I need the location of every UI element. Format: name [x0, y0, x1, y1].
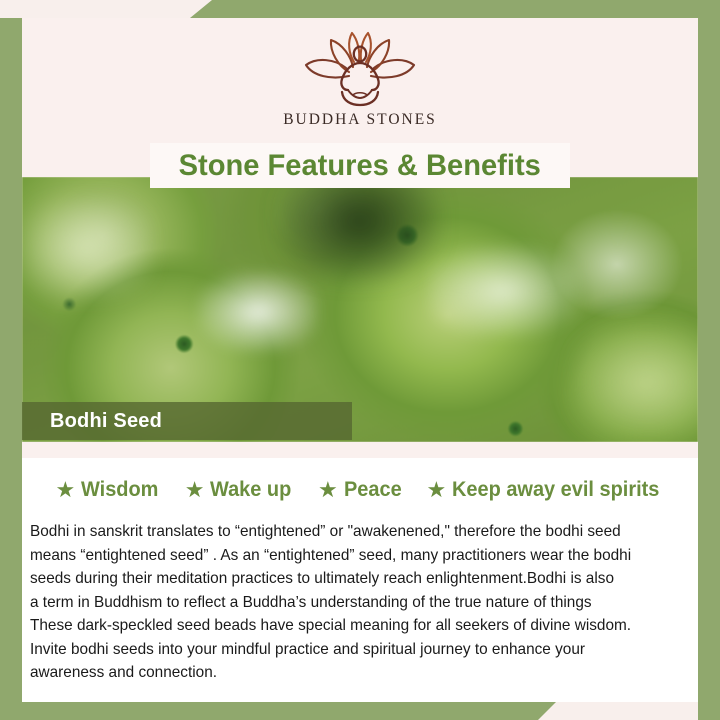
benefits-list: ★ Wisdom ★ Wake up ★ Peace ★ Keep away e… — [22, 478, 698, 502]
photo-caption-label: Bodhi Seed — [50, 410, 162, 433]
description-line: Bodhi in sanskrit translates to “entight… — [30, 520, 680, 544]
benefit-item-peace: ★ Peace — [318, 478, 404, 502]
star-icon: ★ — [185, 479, 205, 501]
photo-highlight — [428, 246, 578, 336]
photo-caption-bar: Bodhi Seed — [22, 402, 352, 440]
description-line: awareness and connection. — [30, 661, 680, 685]
hero-photo: Bodhi Seed — [22, 177, 698, 442]
star-icon: ★ — [426, 479, 446, 501]
frame-right-accent — [698, 0, 720, 720]
lotus-meditation-icon — [297, 26, 423, 110]
star-icon: ★ — [55, 479, 75, 501]
photo-highlight — [575, 327, 698, 437]
benefit-label: Keep away evil spirits — [452, 478, 659, 502]
star-icon: ★ — [318, 479, 338, 501]
content-top-tint — [22, 442, 698, 458]
description-line: a term in Buddhism to reflect a Buddha’s… — [30, 591, 680, 615]
description-line: These dark-speckled seed beads have spec… — [30, 614, 680, 638]
benefit-label: Wake up — [210, 478, 291, 502]
page-title: Stone Features & Benefits — [179, 149, 541, 183]
frame-top-accent — [190, 0, 720, 18]
benefit-label: Peace — [344, 478, 402, 502]
benefit-item-wisdom: ★ Wisdom — [55, 478, 162, 502]
benefit-label: Wisdom — [81, 478, 158, 502]
description-line: means “entightened seed” . As an “entigh… — [30, 544, 680, 568]
benefit-item-wake-up: ★ Wake up — [185, 478, 296, 502]
page-title-banner: Stone Features & Benefits — [150, 143, 570, 188]
description-line: seeds during their meditation practices … — [30, 567, 680, 591]
description-section: ★ Wisdom ★ Wake up ★ Peace ★ Keep away e… — [22, 442, 698, 702]
infographic-page: BUDDHA STONES Bodhi Seed Stone Features … — [0, 0, 720, 720]
brand-wordmark: BUDDHA STONES — [283, 111, 437, 129]
frame-left-accent — [0, 18, 22, 720]
photo-highlight — [279, 177, 439, 281]
content-card: BUDDHA STONES Bodhi Seed Stone Features … — [22, 18, 698, 702]
description-line: Invite bodhi seeds into your mindful pra… — [30, 638, 680, 662]
photo-highlight — [22, 198, 152, 298]
photo-highlight — [198, 272, 318, 352]
benefit-item-keep-away-evil-spirits: ★ Keep away evil spirits — [426, 478, 670, 502]
description-paragraph: Bodhi in sanskrit translates to “entight… — [30, 520, 680, 685]
